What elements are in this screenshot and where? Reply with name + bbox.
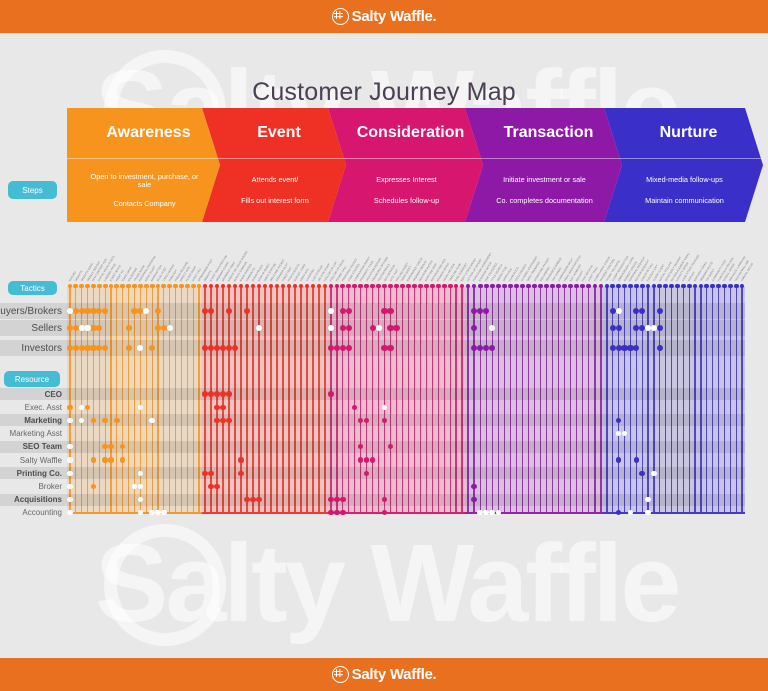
- matrix-dot-hollow[interactable]: [155, 510, 160, 515]
- matrix-dot-filled[interactable]: [208, 391, 213, 396]
- matrix-dot-filled[interactable]: [91, 457, 96, 462]
- tactic-header-dot[interactable]: [634, 284, 639, 289]
- matrix-dot-filled[interactable]: [639, 471, 644, 476]
- matrix-dot-hollow[interactable]: [138, 405, 143, 410]
- matrix-dot-filled[interactable]: [238, 471, 243, 476]
- matrix-dot-filled[interactable]: [214, 391, 219, 396]
- matrix-dot-hollow[interactable]: [376, 325, 382, 331]
- bottom-brand-bar: Salty Waffle.: [0, 658, 768, 691]
- tactic-header-dot[interactable]: [436, 284, 441, 289]
- tactic-header-dot[interactable]: [687, 284, 692, 289]
- brand-logo: Salty Waffle.: [332, 666, 437, 683]
- tactic-header-dot[interactable]: [97, 284, 102, 289]
- matrix-dot-filled[interactable]: [634, 457, 639, 462]
- tactic-header-dot[interactable]: [722, 284, 727, 289]
- tactic-header-dot[interactable]: [138, 284, 143, 289]
- matrix-dot-hollow[interactable]: [138, 484, 143, 489]
- matrix-dot-hollow[interactable]: [67, 484, 72, 489]
- tactic-header-dot[interactable]: [640, 284, 645, 289]
- matrix-dot-hollow[interactable]: [161, 510, 166, 515]
- matrix-dot-filled[interactable]: [334, 510, 339, 515]
- matrix-dot-filled[interactable]: [657, 325, 663, 331]
- matrix-dot-hollow[interactable]: [628, 510, 633, 515]
- matrix-dot-filled[interactable]: [73, 308, 79, 314]
- stage-chevron-awareness[interactable]: AwarenessOpen to investment, purchase, o…: [67, 108, 220, 222]
- matrix-dot-filled[interactable]: [73, 345, 79, 351]
- matrix-dot-hollow[interactable]: [149, 418, 154, 423]
- matrix-dot-filled[interactable]: [471, 484, 476, 489]
- matrix-dot-hollow[interactable]: [167, 325, 173, 331]
- page-title: Customer Journey Map: [0, 78, 768, 107]
- matrix-dot-hollow[interactable]: [67, 510, 72, 515]
- stage-title: Awareness: [67, 108, 220, 159]
- waffle-grid-circle-icon: [332, 8, 349, 25]
- matrix-dot-filled[interactable]: [471, 497, 476, 502]
- matrix-dot-filled[interactable]: [328, 510, 333, 515]
- matrix-dot-filled[interactable]: [244, 497, 249, 502]
- matrix-dot-filled[interactable]: [256, 497, 261, 502]
- tactic-header-dot[interactable]: [675, 284, 680, 289]
- row-label-exec-asst: Exec. Asst: [0, 401, 67, 413]
- row-band: [0, 467, 745, 479]
- tactic-header-dot[interactable]: [490, 284, 495, 289]
- stage-step-line: Initiate investment or sale: [503, 176, 586, 185]
- matrix-dot-filled[interactable]: [340, 497, 345, 502]
- row-label-broker: Broker: [0, 480, 67, 492]
- matrix-dot-filled[interactable]: [126, 325, 132, 331]
- tactic-header-dot[interactable]: [448, 284, 453, 289]
- tactic-header-dot[interactable]: [734, 284, 739, 289]
- matrix-dot-filled[interactable]: [346, 345, 352, 351]
- matrix-dot-hollow[interactable]: [477, 510, 482, 515]
- matrix-dot-filled[interactable]: [214, 418, 219, 423]
- tactic-header-dot[interactable]: [496, 284, 501, 289]
- stage-step-line: Attends event/: [252, 176, 299, 185]
- stage-chevron-event[interactable]: EventAttends event/Fills out interest fo…: [202, 108, 346, 222]
- matrix-dot-hollow[interactable]: [138, 510, 143, 515]
- matrix-dot-filled[interactable]: [202, 391, 207, 396]
- matrix-dot-hollow[interactable]: [483, 510, 488, 515]
- stage-baseline: [328, 512, 465, 514]
- matrix-dot-filled[interactable]: [610, 345, 616, 351]
- waffle-grid-circle-icon: [332, 666, 349, 683]
- matrix-dot-filled[interactable]: [208, 484, 213, 489]
- matrix-dot-filled[interactable]: [202, 471, 207, 476]
- stage-baseline: [202, 512, 328, 514]
- matrix-dot-hollow[interactable]: [67, 308, 73, 314]
- matrix-dot-filled[interactable]: [102, 418, 107, 423]
- stage-title: Consideration: [328, 108, 483, 159]
- matrix-dot-filled[interactable]: [220, 405, 225, 410]
- tactic-header-dot[interactable]: [526, 284, 531, 289]
- stage-steps: Attends event/Fills out interest form: [202, 159, 346, 222]
- matrix-dot-filled[interactable]: [334, 497, 339, 502]
- brand-name: Salty Waffle.: [352, 9, 437, 24]
- matrix-dot-filled[interactable]: [161, 325, 167, 331]
- matrix-dot-filled[interactable]: [250, 497, 255, 502]
- matrix-dot-filled[interactable]: [208, 471, 213, 476]
- matrix-dot-filled[interactable]: [616, 325, 622, 331]
- matrix-dot-filled[interactable]: [387, 308, 393, 314]
- tactic-header-dot[interactable]: [508, 284, 513, 289]
- brand-logo: Salty Waffle.: [332, 8, 437, 25]
- tactic-header-dot[interactable]: [424, 284, 429, 289]
- tactic-header-dot[interactable]: [514, 284, 519, 289]
- tactic-header-dot[interactable]: [628, 284, 633, 289]
- matrix-dot-hollow[interactable]: [67, 457, 72, 462]
- tactic-header-dot[interactable]: [179, 284, 184, 289]
- tactic-header-dot[interactable]: [728, 284, 733, 289]
- matrix-dot-filled[interactable]: [657, 308, 663, 314]
- row-label-accounting: Accounting: [0, 507, 67, 519]
- stage-title: Event: [202, 108, 346, 159]
- tactic-header-dot[interactable]: [185, 284, 190, 289]
- matrix-dot-filled[interactable]: [328, 497, 333, 502]
- tactic-header-dot[interactable]: [144, 284, 149, 289]
- matrix-dot-hollow[interactable]: [645, 510, 650, 515]
- matrix-dot-filled[interactable]: [226, 391, 231, 396]
- matrix-dot-filled[interactable]: [328, 391, 333, 396]
- row-label-salty-waffle: Salty Waffle: [0, 454, 67, 466]
- matrix-dot-filled[interactable]: [73, 325, 79, 331]
- watermark-ring-icon: [104, 524, 226, 646]
- stage-steps: Initiate investment or saleCo. completes…: [465, 159, 622, 222]
- stage-title: Nurture: [604, 108, 763, 159]
- tactic-header-dot[interactable]: [520, 284, 525, 289]
- stage-step-line: Maintain communication: [645, 197, 724, 206]
- stage-step-line: Open to investment, purchase, or sale: [89, 173, 200, 191]
- tactic-header-dot[interactable]: [478, 284, 483, 289]
- stage-steps: Open to investment, purchase, or saleCon…: [67, 159, 220, 222]
- top-brand-bar: Salty Waffle.: [0, 0, 768, 33]
- matrix-dot-filled[interactable]: [370, 457, 375, 462]
- matrix-dot-filled[interactable]: [238, 457, 243, 462]
- matrix-dot-hollow[interactable]: [67, 418, 72, 423]
- stage-baseline: [67, 512, 202, 514]
- matrix-dot-hollow[interactable]: [67, 471, 72, 476]
- tactic-header-dot[interactable]: [484, 284, 489, 289]
- stage-title: Transaction: [465, 108, 622, 159]
- tactic-header-dot[interactable]: [191, 284, 196, 289]
- matrix-dot-filled[interactable]: [226, 418, 231, 423]
- matrix-dot-hollow[interactable]: [496, 510, 501, 515]
- matrix-dot-filled[interactable]: [220, 391, 225, 396]
- matrix-dot-hollow[interactable]: [138, 471, 143, 476]
- stage-baseline: [604, 512, 745, 514]
- row-band: [0, 414, 745, 426]
- matrix-dot-filled[interactable]: [346, 325, 352, 331]
- stage-steps: Expresses InterestSchedules follow-up: [328, 159, 483, 222]
- matrix-dot-filled[interactable]: [387, 345, 393, 351]
- matrix-dot-hollow[interactable]: [645, 497, 650, 502]
- matrix-dot-hollow[interactable]: [149, 510, 154, 515]
- tactic-header-dot[interactable]: [681, 284, 686, 289]
- matrix-dot-hollow[interactable]: [616, 308, 622, 314]
- matrix-dot-hollow[interactable]: [651, 471, 656, 476]
- journey-grid: Buyers/BrokersSellersInvestorsCEOExec. A…: [0, 230, 768, 520]
- matrix-dot-filled[interactable]: [616, 457, 621, 462]
- matrix-dot-filled[interactable]: [610, 308, 616, 314]
- row-band: [0, 388, 745, 400]
- stage-step-line: Co. completes documentation: [496, 197, 593, 206]
- steps-label-pill: Steps: [8, 181, 57, 199]
- tactic-header-dot[interactable]: [442, 284, 447, 289]
- tactic-header-dot[interactable]: [91, 284, 96, 289]
- matrix-dot-hollow[interactable]: [67, 497, 72, 502]
- matrix-dot-filled[interactable]: [382, 510, 387, 515]
- matrix-dot-hollow[interactable]: [489, 510, 494, 515]
- stage-chevron-transaction[interactable]: TransactionInitiate investment or saleCo…: [465, 108, 622, 222]
- stage-step-line: Fills out interest form: [241, 197, 309, 206]
- matrix-dot-filled[interactable]: [85, 405, 90, 410]
- matrix-dot-filled[interactable]: [340, 510, 345, 515]
- row-label-marketing-asst: Marketing Asst: [0, 428, 67, 440]
- matrix-dot-filled[interactable]: [346, 308, 352, 314]
- matrix-dot-filled[interactable]: [214, 484, 219, 489]
- stage-step-line: Contacts Company: [113, 200, 175, 209]
- watermark-text: Salty Waffle: [95, 520, 678, 647]
- matrix-dot-hollow[interactable]: [84, 325, 90, 331]
- matrix-dot-filled[interactable]: [657, 345, 663, 351]
- tactic-header-dot[interactable]: [430, 284, 435, 289]
- matrix-dot-hollow[interactable]: [651, 325, 657, 331]
- row-band: [0, 494, 745, 506]
- stage-chevron-nurture[interactable]: NurtureMixed-media follow-upsMaintain co…: [604, 108, 763, 222]
- stage-step-line: Mixed-media follow-ups: [646, 176, 723, 185]
- matrix-dot-filled[interactable]: [610, 325, 616, 331]
- matrix-dot-filled[interactable]: [370, 325, 376, 331]
- matrix-dot-filled[interactable]: [108, 457, 113, 462]
- matrix-dot-filled[interactable]: [102, 457, 107, 462]
- stage-step-line: Schedules follow-up: [374, 197, 439, 206]
- matrix-dot-filled[interactable]: [616, 510, 621, 515]
- brand-name: Salty Waffle.: [352, 667, 437, 682]
- tactic-header-dot[interactable]: [150, 284, 155, 289]
- tactic-header-dot[interactable]: [502, 284, 507, 289]
- tactic-header-dot[interactable]: [406, 284, 411, 289]
- matrix-dot-filled[interactable]: [67, 405, 72, 410]
- tactic-header-dot[interactable]: [412, 284, 417, 289]
- matrix-dot-filled[interactable]: [220, 418, 225, 423]
- stage-chevron-consideration[interactable]: ConsiderationExpresses InterestSchedules…: [328, 108, 483, 222]
- tactic-header-dot[interactable]: [418, 284, 423, 289]
- stage-step-line: Expresses Interest: [376, 176, 436, 185]
- matrix-dot-filled[interactable]: [393, 325, 399, 331]
- stage-steps: Mixed-media follow-upsMaintain communica…: [604, 159, 763, 222]
- journey-stages: AwarenessOpen to investment, purchase, o…: [67, 108, 745, 222]
- matrix-dot-filled[interactable]: [114, 418, 119, 423]
- matrix-dot-filled[interactable]: [214, 405, 219, 410]
- tactic-header-dot[interactable]: [103, 284, 108, 289]
- tactic-header-dot[interactable]: [400, 284, 405, 289]
- matrix-dot-filled[interactable]: [126, 345, 132, 351]
